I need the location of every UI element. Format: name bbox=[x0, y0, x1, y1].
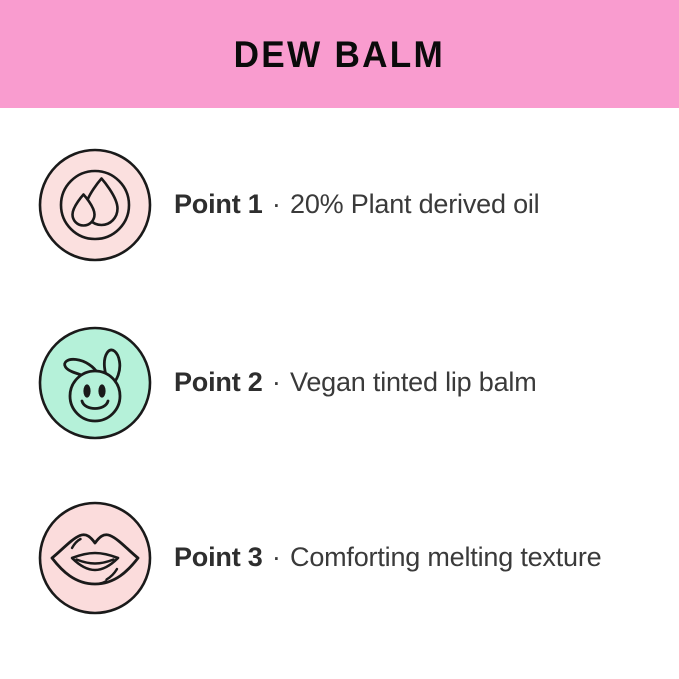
feature-text: Point 3 · Comforting melting texture bbox=[174, 543, 601, 573]
point-label: Point 2 bbox=[174, 367, 263, 397]
header-banner: DEW BALM bbox=[0, 0, 679, 108]
page-title: DEW BALM bbox=[234, 36, 446, 73]
point-description: Vegan tinted lip balm bbox=[290, 367, 536, 397]
bunny-smiley-icon-badge bbox=[38, 326, 152, 440]
point-separator: · bbox=[270, 367, 283, 397]
point-label: Point 3 bbox=[174, 542, 263, 572]
feature-text: Point 2 · Vegan tinted lip balm bbox=[174, 368, 537, 398]
lips-icon bbox=[38, 501, 152, 615]
feature-text: Point 1 · 20% Plant derived oil bbox=[174, 190, 539, 220]
bunny-smiley-icon bbox=[38, 326, 152, 440]
point-separator: · bbox=[270, 189, 283, 219]
point-separator: · bbox=[270, 542, 283, 572]
point-label: Point 1 bbox=[174, 189, 263, 219]
product-feature-card: DEW BALM Point 1 · 20% Plant derived oil bbox=[0, 0, 679, 679]
droplet-icon-badge bbox=[38, 148, 152, 262]
feature-row: Point 2 · Vegan tinted lip balm bbox=[0, 325, 679, 441]
point-description: Comforting melting texture bbox=[290, 542, 601, 572]
feature-list: Point 1 · 20% Plant derived oil bbox=[0, 108, 679, 679]
feature-row: Point 3 · Comforting melting texture bbox=[0, 500, 679, 616]
point-description: 20% Plant derived oil bbox=[290, 189, 539, 219]
feature-row: Point 1 · 20% Plant derived oil bbox=[0, 147, 679, 263]
lips-icon-badge bbox=[38, 501, 152, 615]
droplet-icon bbox=[38, 148, 152, 262]
